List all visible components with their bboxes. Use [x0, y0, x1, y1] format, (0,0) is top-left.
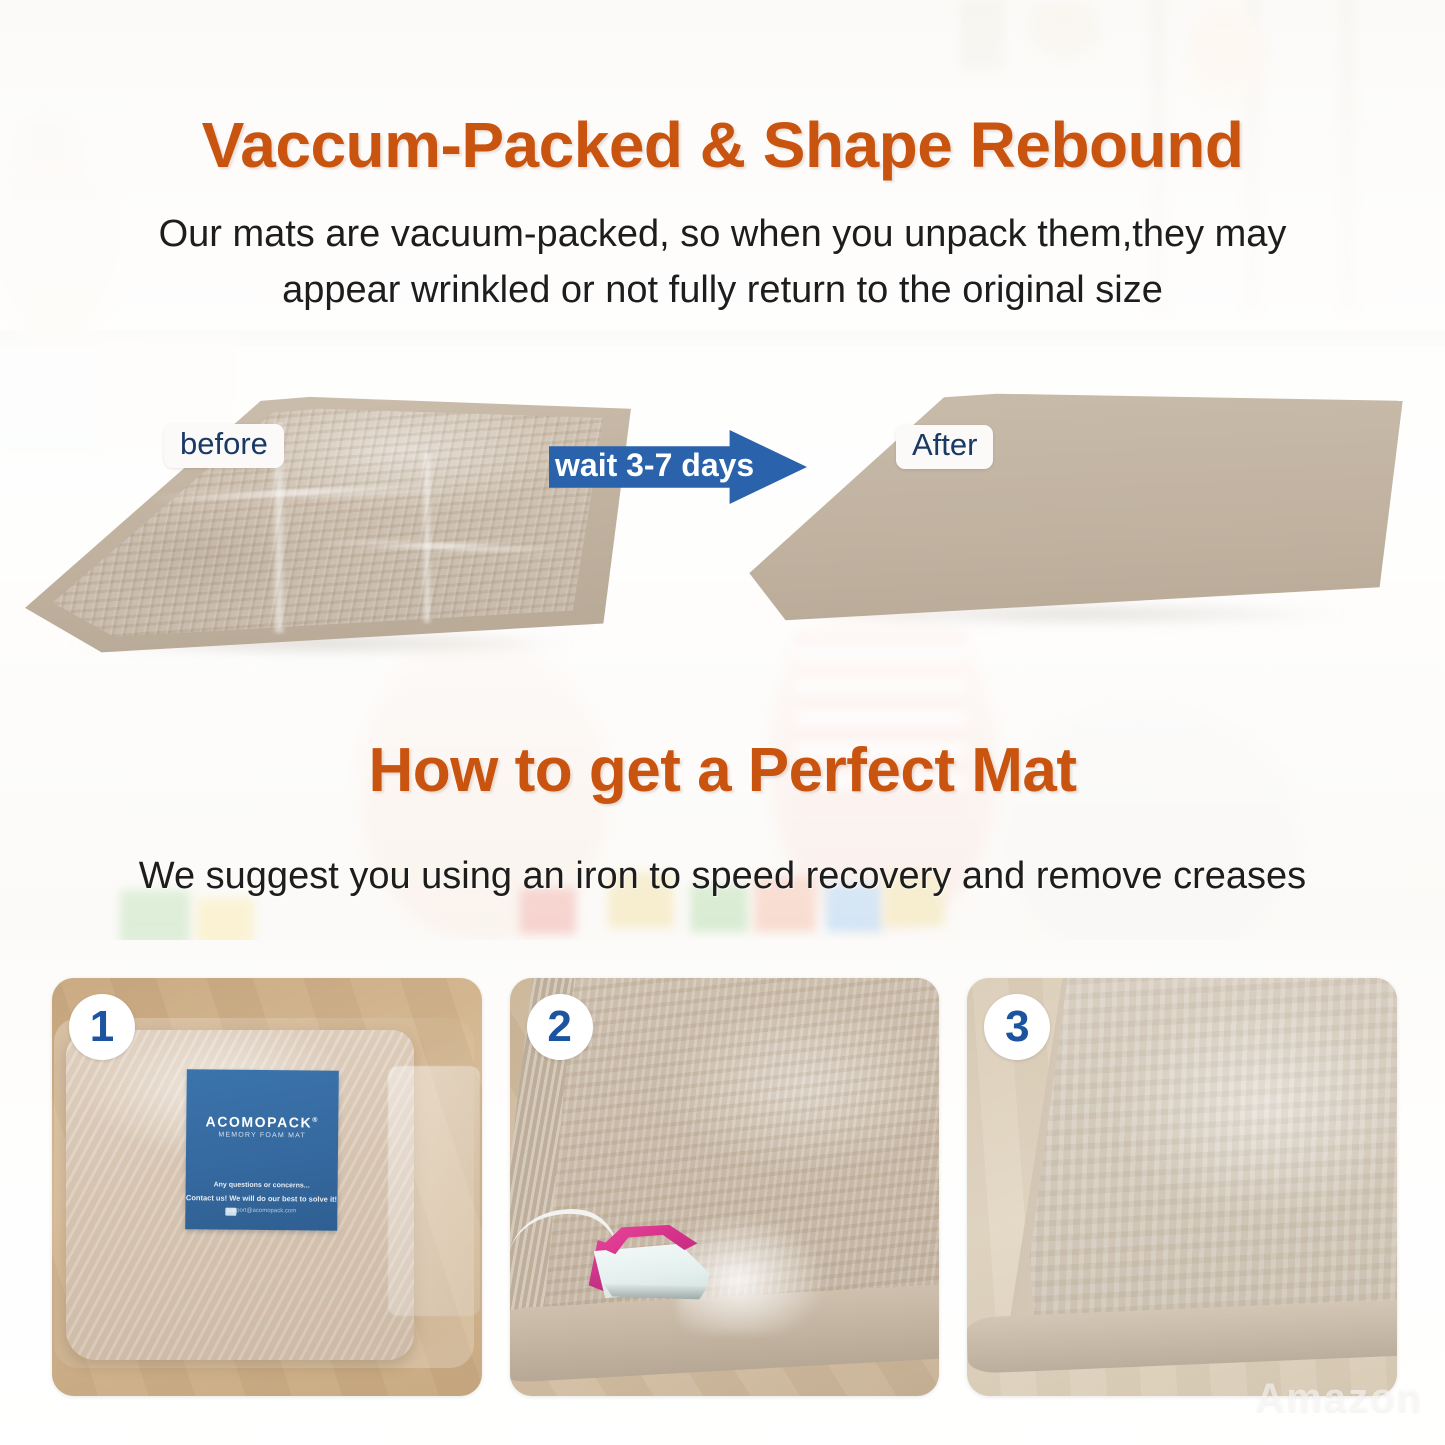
brand-name-text: ACOMOPACK	[205, 1113, 312, 1130]
before-mat-crease	[422, 453, 432, 623]
brand-insert-card: ACOMOPACK® MEMORY FOAM MAT Any questions…	[185, 1069, 339, 1231]
plastic-wrap-tail	[388, 1066, 480, 1316]
rebound-subtext: Our mats are vacuum-packed, so when you …	[90, 206, 1355, 318]
watermark: Amazon	[1255, 1376, 1423, 1421]
perfect-mat-subtext: We suggest you using an iron to speed re…	[30, 848, 1415, 904]
rebound-subtext-line-2: appear wrinkled or not fully return to t…	[90, 262, 1355, 318]
after-badge: After	[896, 425, 993, 469]
page-title-rebound: Vaccum-Packed & Shape Rebound	[0, 108, 1445, 182]
after-mat-photo	[746, 389, 1406, 625]
step-photo-card-3: 3	[967, 978, 1397, 1396]
support-email: support@acomopack.com	[185, 1207, 337, 1215]
step-badge-2: 2	[527, 994, 593, 1060]
wait-arrow-label: wait 3-7 days	[555, 447, 737, 484]
step-badge-1: 1	[69, 994, 135, 1060]
registered-trademark-icon: ®	[312, 1117, 319, 1124]
page-title-perfect-mat: How to get a Perfect Mat	[0, 735, 1445, 806]
before-badge: before	[164, 424, 284, 468]
wait-arrow: wait 3-7 days	[549, 430, 807, 504]
rebound-subtext-line-1: Our mats are vacuum-packed, so when you …	[90, 206, 1355, 262]
step-photo-card-2: 2	[510, 978, 940, 1396]
step-badge-3: 3	[984, 994, 1050, 1060]
step-photo-card-1: ACOMOPACK® MEMORY FOAM MAT Any questions…	[52, 978, 482, 1396]
steps-photo-row: ACOMOPACK® MEMORY FOAM MAT Any questions…	[52, 978, 1397, 1396]
support-note-line-1: Any questions or concerns...	[186, 1181, 338, 1190]
brand-name: ACOMOPACK®	[186, 1113, 338, 1131]
support-note-line-2: Contact us! We will do our best to solve…	[185, 1193, 337, 1204]
brand-subtitle: MEMORY FOAM MAT	[186, 1131, 338, 1140]
before-mat-photo	[22, 393, 634, 655]
